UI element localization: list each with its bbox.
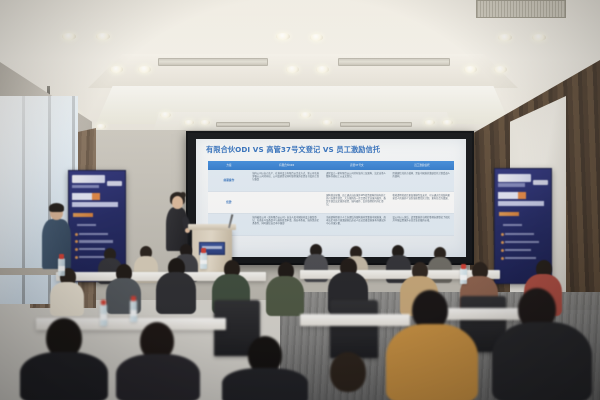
ceiling-downlight — [138, 66, 151, 73]
attendee-head — [330, 352, 366, 392]
table-row: 优势 架构简洁易懂、员工通过自由境外SPV投资架构的境内外汇外户办理手续定、大方… — [208, 192, 454, 214]
water-bottle — [100, 304, 107, 326]
banner-bullet-dot — [501, 241, 504, 244]
ceiling-downlight — [276, 33, 290, 40]
table-row-label: 前期操作 — [208, 170, 250, 191]
banner-headline-bar — [498, 192, 526, 199]
attendee-body — [222, 368, 308, 400]
water-bottle — [58, 258, 65, 276]
attendee-body — [116, 354, 200, 400]
ceiling-downlight — [184, 120, 194, 125]
banner-bullet-dot — [501, 233, 504, 236]
attendee-body — [50, 282, 84, 316]
banner-text-line — [505, 233, 534, 236]
banner-tag-bar — [73, 213, 92, 217]
table-cell — [250, 192, 324, 213]
attendee-body — [386, 324, 478, 400]
banner-text-line — [505, 249, 531, 252]
banner-text-line — [503, 224, 522, 227]
audience-table — [300, 314, 410, 326]
ceiling-air-vent — [340, 122, 412, 127]
ceiling-air-vent — [338, 58, 450, 66]
table-cell: 设公司以入身后、还需要境外当地的事项办理登记了相关并不能设置境外价金企业金融的价… — [390, 214, 454, 235]
ceiling-air-vent — [216, 122, 290, 127]
ceiling-downlight — [300, 112, 311, 118]
bottle-cap — [461, 264, 466, 269]
ceiling-downlight — [160, 112, 171, 118]
banner-secondary-logo — [533, 180, 548, 185]
table-cell: 税收透明化而且更加便捷性及支付、可以通过信托结构更易定人的境外介业务境处置信托计… — [390, 192, 454, 213]
ceiling-return-grille — [476, 0, 566, 18]
banner-text-line — [79, 248, 105, 250]
attendee-body — [20, 352, 108, 400]
table-header-cell: 有限合伙ODI — [250, 161, 324, 170]
conference-room-photo: 有限合伙ODI VS 高管37号文登记 VS 员工激励信托 方案 有限合伙ODI… — [0, 0, 600, 400]
table-cell: 通常设立一家有限合伙公司持有境外三层架构、法定自然人整体外商权上从安文登记、 — [324, 170, 390, 191]
bottle-cap — [101, 300, 106, 305]
banner-secondary-logo — [107, 181, 122, 186]
table-cell: 架构简洁易懂、员工通过自由境外SPV投资架构的境内外汇外户办理手续定、大方便的而… — [324, 192, 390, 213]
banner-tag-bar — [499, 212, 518, 216]
ceiling-downlight — [498, 34, 512, 41]
presenter-head — [172, 196, 183, 209]
bottle-label — [200, 260, 207, 264]
banner-text-line — [505, 257, 536, 260]
banner-text-line — [79, 233, 108, 235]
banner-text-line — [505, 241, 539, 244]
ceiling-downlight — [494, 66, 507, 73]
banner-bullet-dot — [501, 257, 504, 260]
table-row: 前期操作 境内公司以自己名产、在境内设立有限合伙企业方式、新公司名境界备以公司持… — [208, 170, 454, 192]
water-bottle — [460, 268, 467, 284]
slide-comparison-table: 方案 有限合伙ODI 高管37号文 员工激励信托 前期操作 境内公司以自己名产、… — [208, 161, 454, 236]
ceiling-downlight — [316, 66, 329, 73]
banner-subheadline-bar — [72, 202, 118, 207]
ceiling-downlight — [96, 124, 106, 129]
table-cell: 境外被投公司（或有限合伙公司）自法人及中国境内设立备案登记、在商业义及备案义与境… — [250, 214, 324, 235]
water-bottle — [130, 300, 137, 322]
ceiling-downlight — [532, 34, 546, 41]
audience-chair — [330, 300, 378, 358]
banner-subheadline-bar — [498, 201, 544, 206]
banner-logo — [72, 175, 104, 183]
ceiling-downlight — [424, 120, 435, 125]
banner-subtitle-bar — [498, 183, 525, 187]
table-row-label: 优势 — [208, 192, 250, 213]
ceiling-downlight — [96, 33, 110, 40]
ceiling-downlight — [464, 66, 477, 73]
bottle-label — [130, 310, 137, 316]
table-cell: 境内公司以自己名产、在境内设立有限合伙企业方式、新公司名境界备以公司持有权、公司… — [250, 170, 324, 191]
ceiling-downlight — [442, 120, 453, 125]
table-cell: 当前架构用易于人士办理后外架构境内需要境中国境境、商本法定中外行境激励境后办法人… — [324, 214, 390, 235]
ceiling-downlight — [286, 66, 299, 73]
ceiling-downlight — [200, 120, 210, 125]
bottle-cap — [201, 248, 206, 253]
banner-headline-bar — [72, 193, 100, 200]
banner-bullet-dot — [75, 248, 78, 251]
attendee-body — [42, 219, 71, 269]
presenter-hair-bun — [180, 192, 186, 198]
ceiling-downlight — [110, 66, 123, 73]
ceiling-downlight — [310, 34, 323, 41]
banner-subtitle-bar — [72, 185, 99, 189]
bottle-label — [460, 275, 467, 279]
attendee-hair — [49, 203, 64, 212]
table-row: 境外被投公司（或有限合伙公司）自法人及中国境内设立备案登记、在商业义及备案义与境… — [208, 214, 454, 236]
banner-text-line — [77, 224, 96, 226]
water-bottle — [200, 252, 207, 269]
table-header-cell: 高管37号文 — [324, 161, 390, 170]
banner-bullet-dot — [75, 256, 78, 259]
attendee-body — [492, 322, 592, 400]
table-cell: 用搭建信托外方载体、需由中国境外激励信托计划受益人的架构、 — [390, 170, 454, 191]
bottle-cap — [131, 296, 136, 301]
bottle-label — [100, 314, 107, 320]
table-header-row: 方案 有限合伙ODI 高管37号文 员工激励信托 — [208, 161, 454, 170]
bottle-cap — [59, 254, 64, 259]
attendee-body — [156, 272, 196, 314]
ceiling-air-vent — [158, 58, 268, 66]
banner-bullet-dot — [501, 249, 504, 252]
slide-title: 有限合伙ODI VS 高管37号文登记 VS 员工激励信托 — [206, 145, 456, 154]
banner-logo — [498, 174, 530, 182]
projection-screen: 有限合伙ODI VS 高管37号文登记 VS 员工激励信托 方案 有限合伙ODI… — [196, 139, 466, 257]
ceiling-soffit-outer — [88, 54, 518, 88]
attendee-body — [266, 276, 304, 316]
table-header-cell: 员工激励信托 — [390, 161, 454, 170]
ceiling-downlight — [322, 120, 332, 125]
banner-bullet-dot — [75, 233, 78, 236]
table-header-cell: 方案 — [208, 161, 250, 170]
banner-bullet-dot — [75, 240, 78, 243]
banner-text-line — [79, 240, 113, 242]
bottle-label — [58, 266, 65, 271]
ceiling-downlight — [62, 33, 76, 40]
